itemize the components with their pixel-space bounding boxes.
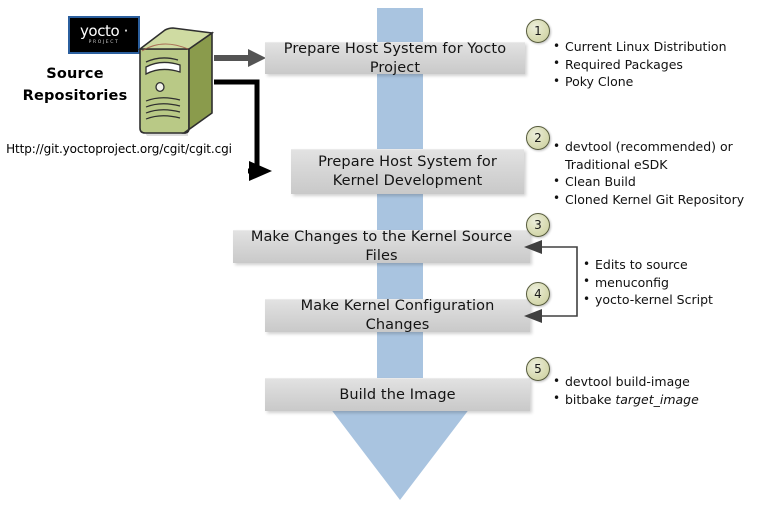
- step-badge-3: 3: [526, 213, 550, 237]
- step-badge-4: 4: [526, 282, 550, 306]
- step-box-1[interactable]: Prepare Host System for Yocto Project: [265, 42, 525, 74]
- steps-3-4-notes: Edits to source menuconfig yocto-kernel …: [583, 256, 763, 309]
- note-item: Poky Clone: [553, 73, 765, 91]
- note-text-italic: target_image: [615, 392, 698, 407]
- note-item: Cloned Kernel Git Repository: [553, 191, 765, 209]
- connector-arrow-to-step-2: [214, 82, 272, 181]
- note-item: devtool (recommended) or Traditional eSD…: [553, 138, 765, 173]
- note-item: Clean Build: [553, 173, 765, 191]
- diagram-canvas: yocto · PROJECT Source Repositories Http…: [0, 0, 769, 517]
- connector-arrow-to-step-1: [214, 49, 266, 67]
- step-5-notes: devtool build-image bitbake target_image: [553, 373, 765, 408]
- note-text-line1: devtool (recommended) or: [565, 139, 733, 154]
- note-text-line2: Traditional eSDK: [565, 156, 765, 174]
- note-item: bitbake target_image: [553, 391, 765, 409]
- note-item: menuconfig: [583, 274, 763, 292]
- step-box-5[interactable]: Build the Image: [265, 378, 530, 411]
- note-item: Edits to source: [583, 256, 763, 274]
- note-item: Current Linux Distribution: [553, 38, 765, 56]
- step-badge-5: 5: [526, 357, 550, 381]
- source-to-step-connectors: [0, 0, 330, 200]
- note-item: devtool build-image: [553, 373, 765, 391]
- step-box-4[interactable]: Make Kernel Configuration Changes: [265, 299, 530, 332]
- step-2-notes: devtool (recommended) or Traditional eSD…: [553, 138, 765, 208]
- note-item: yocto-kernel Script: [583, 291, 763, 309]
- step-box-2[interactable]: Prepare Host System for Kernel Developme…: [291, 149, 524, 194]
- note-item: Required Packages: [553, 56, 765, 74]
- step-badge-2: 2: [526, 126, 550, 150]
- step-badge-1: 1: [526, 19, 550, 43]
- step-1-notes: Current Linux Distribution Required Pack…: [553, 38, 765, 91]
- note-text-plain: bitbake: [565, 392, 615, 407]
- step-box-3[interactable]: Make Changes to the Kernel Source Files: [233, 230, 530, 263]
